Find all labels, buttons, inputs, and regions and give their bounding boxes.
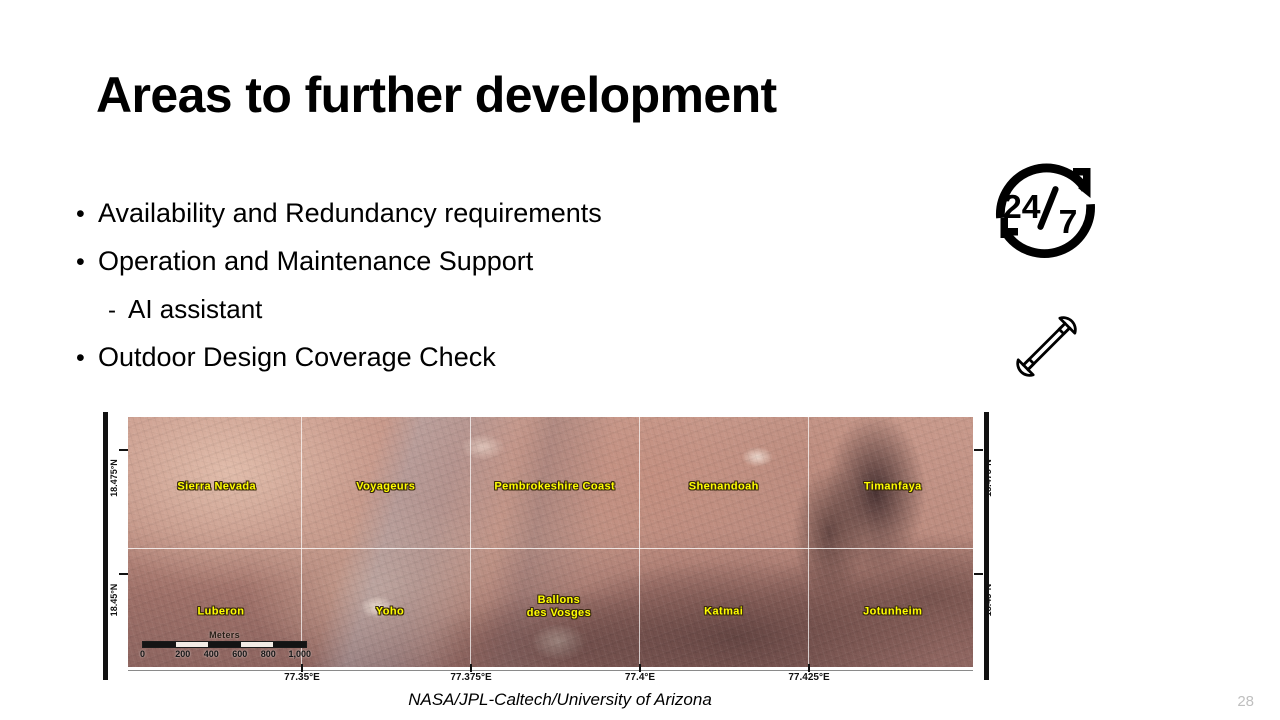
lat-label-left-top: 18.475°N	[109, 451, 119, 505]
lon-tick-1	[301, 664, 303, 672]
scalebar-tick-label: 1,000	[283, 649, 312, 659]
mars-satellite-image: Sierra Nevada Voyageurs Pembrokeshire Co…	[128, 417, 973, 667]
map-place-label: Sierra Nevada	[177, 481, 256, 494]
sub-bullet-text: AI assistant	[128, 286, 262, 333]
scalebar-title: Meters	[142, 630, 307, 640]
graticule-vertical-2	[470, 417, 471, 667]
map-place-label: Yoho	[376, 606, 404, 619]
lat-label-right-top: 18.475°N	[983, 451, 993, 505]
map-caption: NASA/JPL-Caltech/University of Arizona	[0, 690, 1120, 710]
lon-tick-3	[639, 664, 641, 672]
scalebar-tick-label: 200	[169, 649, 198, 659]
scalebar-segment	[176, 642, 209, 647]
map-place-label: Katmai	[704, 606, 743, 619]
lon-label-4: 77.425°E	[788, 672, 829, 683]
lat-tick-right-bottom	[974, 573, 983, 575]
bullet-marker: •	[76, 239, 98, 286]
scalebar-tick-label: 0	[140, 649, 169, 659]
map-place-label: Luberon	[198, 606, 245, 619]
sub-bullet-marker: -	[108, 287, 128, 334]
bullet-item-availability: • Availability and Redundancy requiremen…	[76, 190, 856, 238]
graticule-vertical-3	[639, 417, 640, 667]
scalebar-segment	[241, 642, 274, 647]
map-place-label: Shenandoah	[689, 481, 759, 494]
24-label: 24	[1003, 188, 1041, 226]
map-bottom-rule	[128, 670, 973, 671]
map-place-label: Pembrokeshire Coast	[494, 481, 615, 494]
map-place-label: Jotunheim	[863, 606, 922, 619]
lon-tick-4	[808, 664, 810, 672]
bullet-list: • Availability and Redundancy requiremen…	[76, 190, 856, 382]
bullet-text: Availability and Redundancy requirements	[98, 190, 602, 237]
scalebar-segment	[273, 642, 306, 647]
lon-label-2: 77.375°E	[450, 672, 491, 683]
scalebar-tick-label: 400	[197, 649, 226, 659]
sub-bullet-item-ai-assistant: - AI assistant	[76, 286, 856, 334]
lat-tick-left-bottom	[119, 573, 128, 575]
bullet-item-operation-maintenance: • Operation and Maintenance Support	[76, 238, 856, 286]
graticule-horizontal-1	[128, 548, 973, 549]
mars-map-figure: 18.475°N 18.45°N 18.475°N 18.45°N Sierra…	[103, 412, 989, 680]
lon-label-3: 77.4°E	[625, 672, 655, 683]
lat-tick-left-top	[119, 449, 128, 451]
page-title: Areas to further development	[96, 66, 777, 124]
lat-label-right-bottom: 18.45°N	[983, 575, 993, 625]
lon-tick-2	[470, 664, 472, 672]
graticule-vertical-4	[808, 417, 809, 667]
bullet-marker: •	[76, 335, 98, 382]
scalebar-segment	[143, 642, 176, 647]
map-place-label: Ballons des Vosges	[527, 594, 591, 620]
scalebar-ticks: 0 200 400 600 800 1,000	[142, 649, 307, 659]
wrench-icon	[1008, 308, 1100, 400]
map-scalebar: Meters 0 200 400 600 800 1,000	[142, 630, 307, 659]
bullet-text: Operation and Maintenance Support	[98, 238, 533, 285]
map-place-label: Voyageurs	[356, 481, 415, 494]
bullet-text: Outdoor Design Coverage Check	[98, 334, 496, 381]
bullet-item-outdoor-design: • Outdoor Design Coverage Check	[76, 334, 856, 382]
lat-label-left-bottom: 18.45°N	[109, 575, 119, 625]
slide-number: 28	[1237, 693, 1254, 710]
scalebar-bar	[142, 641, 307, 648]
scalebar-tick-label: 800	[254, 649, 283, 659]
bullet-marker: •	[76, 191, 98, 238]
24-7-cycle-icon: 24 7	[983, 148, 1108, 273]
7-label: 7	[1059, 203, 1078, 241]
lon-label-1: 77.35°E	[284, 672, 320, 683]
scalebar-tick-label: 600	[226, 649, 255, 659]
map-frame-left-bar	[103, 412, 108, 680]
slide-canvas: Areas to further development • Availabil…	[0, 0, 1280, 720]
map-place-label: Timanfaya	[864, 481, 922, 494]
scalebar-segment	[208, 642, 241, 647]
lat-tick-right-top	[974, 449, 983, 451]
